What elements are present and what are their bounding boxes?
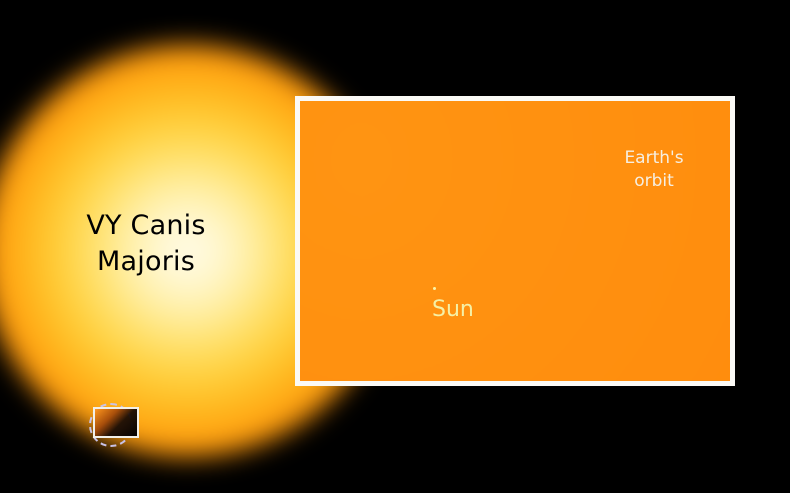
scale-indicator: [86, 400, 146, 448]
earth-orbit-circle: [300, 101, 730, 381]
earth-orbit-label: Earth's orbit: [596, 147, 712, 193]
sun-disc: [433, 287, 436, 290]
inset-viewport: Earth's orbit Sun: [300, 101, 730, 381]
size-comparison-figure: VY Canis Majoris Earth's orbit Sun: [0, 0, 790, 493]
scale-indicator-magnified-region-box: [93, 407, 139, 438]
magnified-inset-panel: Earth's orbit Sun: [295, 96, 735, 386]
vy-canis-majoris-label: VY Canis Majoris: [36, 208, 256, 280]
sun-label: Sun: [432, 297, 474, 323]
